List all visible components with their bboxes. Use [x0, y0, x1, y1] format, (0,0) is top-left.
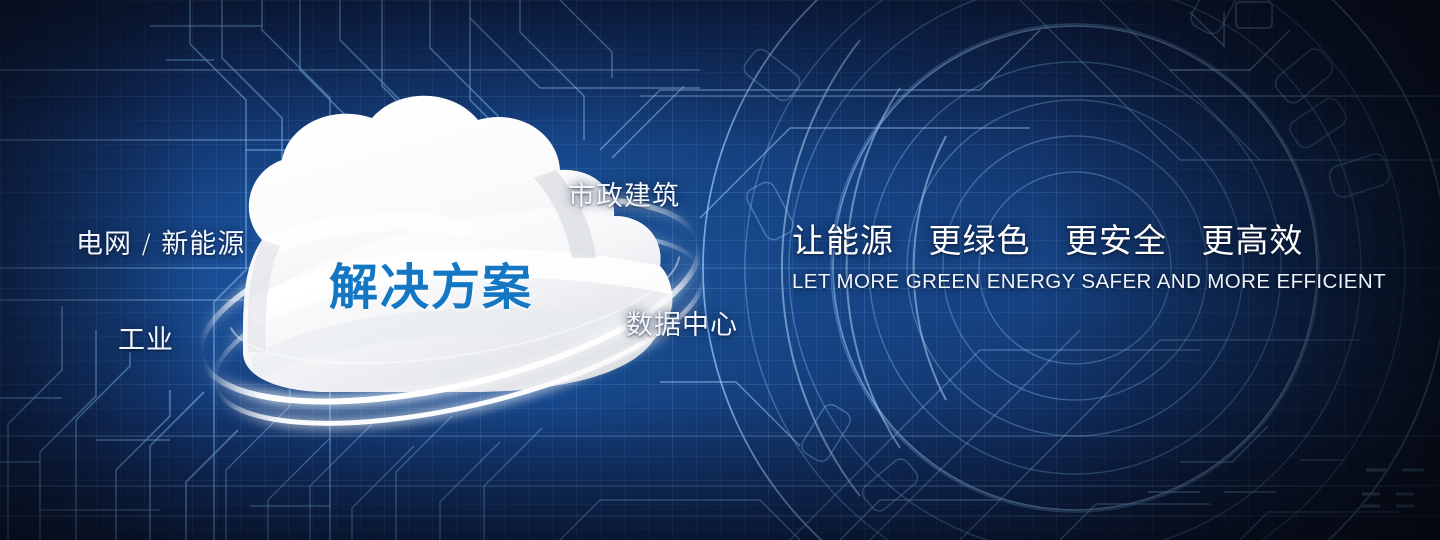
label-industry: 工业: [118, 318, 174, 357]
label-data-center: 数据中心: [626, 303, 738, 342]
label-municipal-building: 市政建筑: [568, 174, 680, 213]
slogan-english: LET MORE GREEN ENERGY SAFER AND MORE EFF…: [792, 270, 1332, 294]
slogan-chinese: 让能源 更绿色 更安全 更高效: [792, 222, 1332, 261]
slogan-block: 让能源 更绿色 更安全 更高效 LET MORE GREEN ENERGY SA…: [792, 222, 1332, 294]
label-grid-new-energy: 电网 / 新能源: [76, 222, 245, 261]
solution-hero-banner: 解决方案 电网 / 新能源 工业 市政建筑 数据中心 让能源 更绿色 更安全 更…: [0, 0, 1440, 540]
cloud-headline: 解决方案: [329, 248, 533, 319]
